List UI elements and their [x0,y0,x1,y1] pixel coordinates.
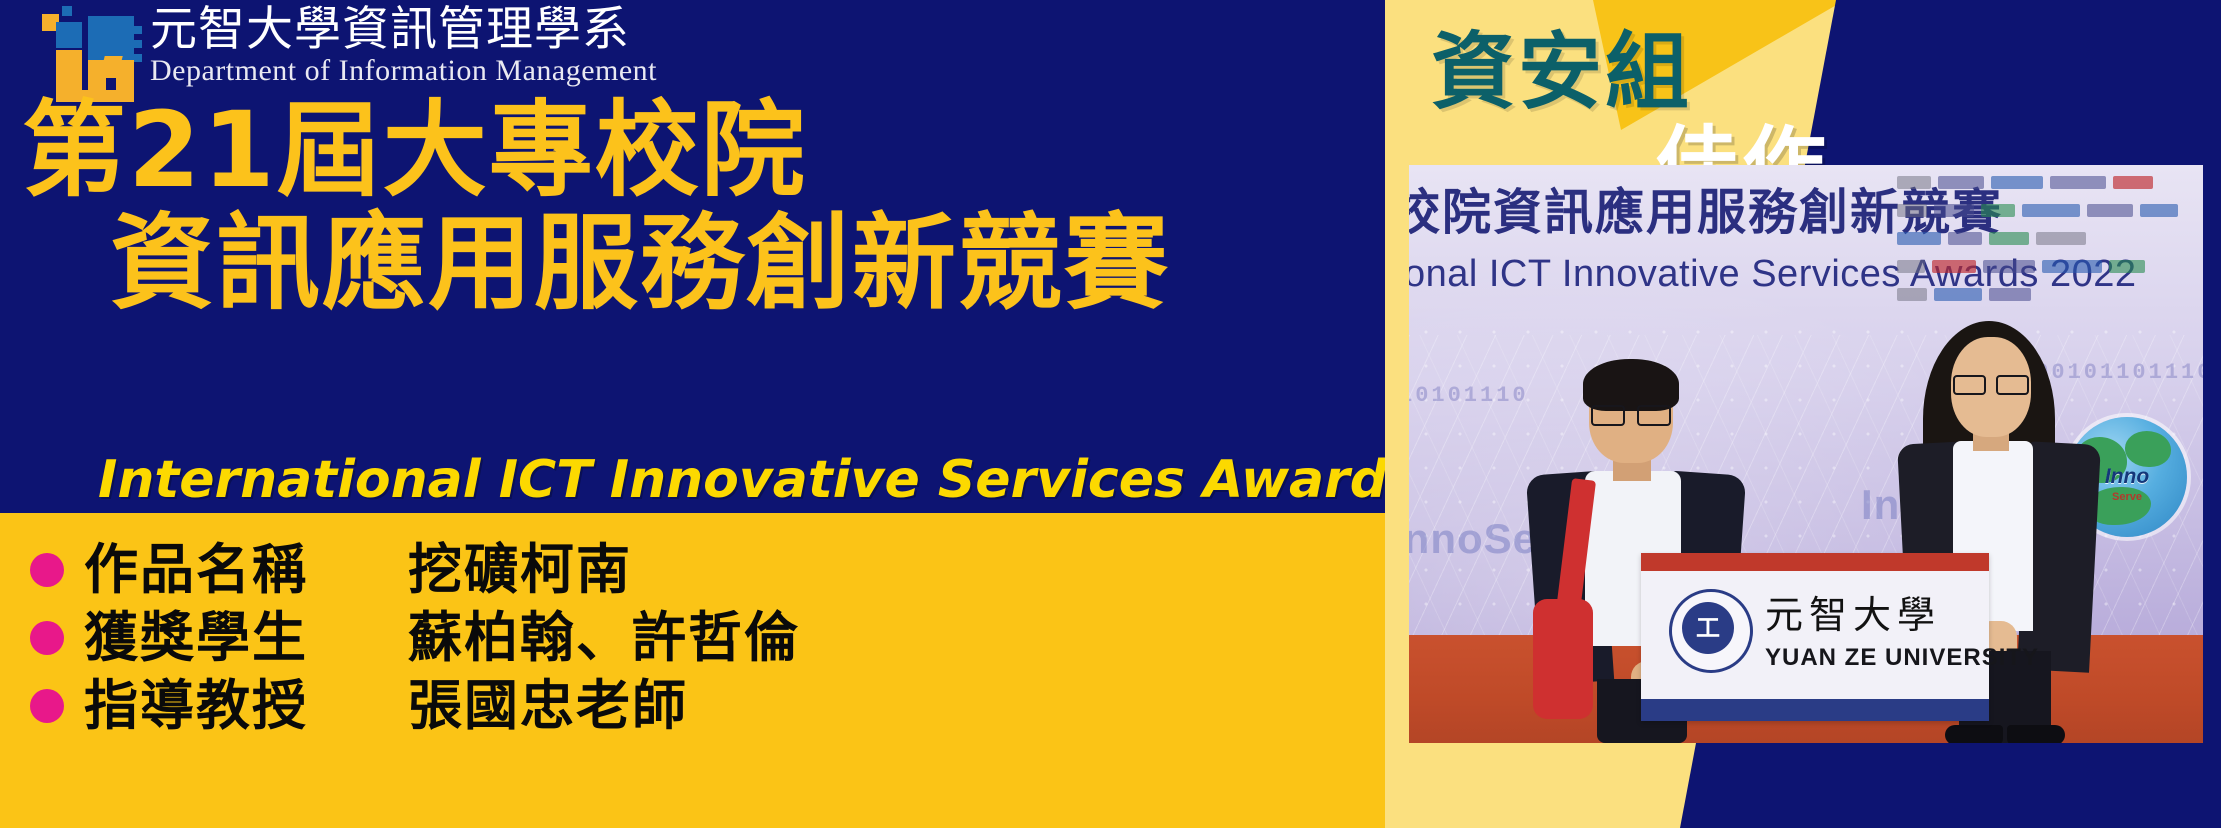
backdrop-binary-text: 10101110 [1409,383,1529,408]
sponsor-logo [2022,204,2080,217]
hair [1583,359,1679,411]
flag-red-band [1641,553,1989,571]
sponsor-row [1897,171,2197,193]
sponsor-logo [2042,260,2102,273]
seal-glyph: 工 [1692,612,1724,644]
sponsor-logo [1897,232,1941,245]
sponsor-logo [1897,204,1927,217]
department-name-en: Department of Information Management [150,54,657,88]
sponsor-logo [2109,260,2145,273]
department-name-block: 元智大學資訊管理學系 Department of Information Man… [150,4,657,88]
shoe [2007,725,2065,743]
list-item: 指導教授 張國忠老師 [30,672,1360,740]
sponsor-logo [1989,232,2029,245]
innoserve-watermark: InnoSe [1409,515,1537,563]
flag-name-en: YUAN ZE UNIVERSITY [1765,645,2039,671]
award-announcement-banner: 元智大學資訊管理學系 Department of Information Man… [0,0,2221,828]
sponsor-logo [1983,260,2035,273]
sponsor-logo [2087,204,2133,217]
university-seal-icon: 工 [1669,589,1753,673]
sponsor-logo [1989,288,2031,301]
university-flag: 工 元智大學 YUAN ZE UNIVERSITY [1641,553,1989,721]
headline-english-subtitle: International ICT Innovative Services Aw… [98,452,1385,508]
bullet-icon [30,621,64,655]
detail-value: 張國忠老師 [408,677,688,735]
sponsor-logo-grid [1897,171,2197,306]
list-item: 獲獎學生 蘇柏翰、許哲倫 [30,604,1360,672]
detail-label: 作品名稱 [84,541,374,599]
sponsor-row [1897,227,2197,249]
sponsor-logo [2050,176,2106,189]
sponsor-logo [1934,204,1974,217]
sponsor-logo [2140,204,2178,217]
sponsor-row [1897,284,2197,306]
sponsor-logo [1938,176,1984,189]
award-details-list: 作品名稱 挖礦柯南 獲獎學生 蘇柏翰、許哲倫 指導教授 張國忠老師 [30,536,1360,740]
department-name-cn: 元智大學資訊管理學系 [150,4,657,56]
department-identity: 元智大學資訊管理學系 Department of Information Man… [34,4,657,102]
sponsor-logo [2036,232,2086,245]
flag-blue-band [1641,699,1989,721]
glasses-icon [1589,405,1673,422]
sponsor-logo [1897,176,1931,189]
list-item: 作品名稱 挖礦柯南 [30,536,1360,604]
sponsor-logo [1948,232,1982,245]
detail-value: 挖礦柯南 [408,541,632,599]
sponsor-logo [1932,260,1976,273]
sponsor-logo [1897,288,1927,301]
left-content-panel: 元智大學資訊管理學系 Department of Information Man… [0,0,1385,828]
shoe [1945,725,2003,743]
detail-value: 蘇柏翰、許哲倫 [408,609,800,667]
glasses-icon [1951,375,2031,391]
headline-line-1: 第21屆大專校院 [22,95,807,205]
right-award-panel: 資安組 佳作 校院資訊應用服務創新競賽 ional ICT Innovative… [1385,0,2221,828]
backpack [1533,599,1593,719]
detail-label: 獲獎學生 [84,609,374,667]
sponsor-logo [1897,260,1925,273]
winners-photo: 校院資訊應用服務創新競賽 ional ICT Innovative Servic… [1409,165,2203,743]
sponsor-logo [2113,176,2153,189]
sponsor-row [1897,199,2197,221]
sponsor-logo [1934,288,1982,301]
sponsor-row [1897,256,2197,278]
bullet-icon [30,689,64,723]
flag-name-cn: 元智大學 [1765,595,1941,637]
headline-line-2: 資訊應用服務創新競賽 [110,208,1170,318]
detail-label: 指導教授 [84,677,374,735]
bullet-icon [30,553,64,587]
award-category-badge: 資安組 [1431,26,1692,118]
sponsor-logo [1981,204,2015,217]
sponsor-logo [1991,176,2043,189]
yzu-im-logo-icon [34,4,142,102]
